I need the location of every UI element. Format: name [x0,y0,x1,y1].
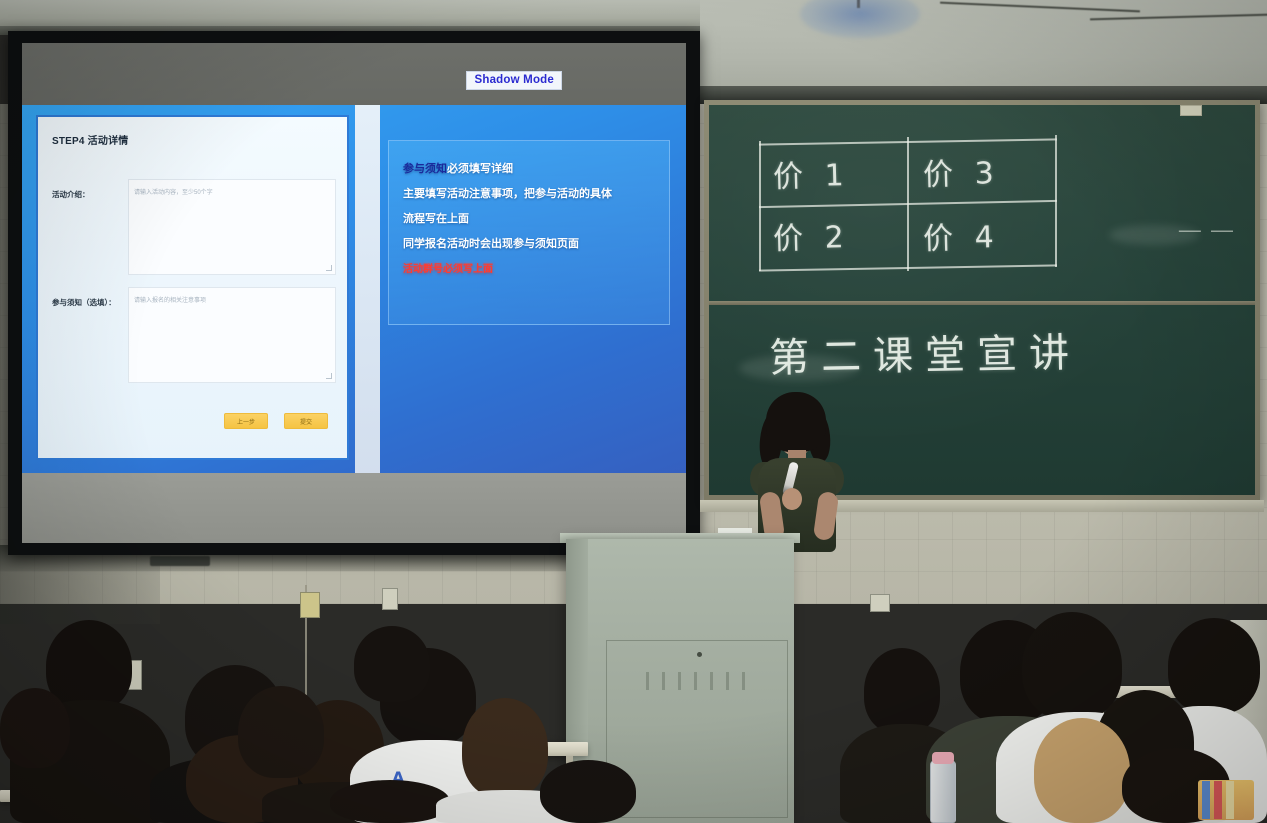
podium-dot [697,652,702,657]
student-head [1022,612,1122,720]
student-head [540,760,636,823]
projection-screen: Shadow Mode STEP4 活动详情 活动介绍： 请输入活动内容，至少5… [8,31,700,555]
student-head [238,686,324,778]
podium-slot [710,672,713,690]
chalk-grid: 价 1 价 3 价 2 价 4 [759,141,1059,271]
presenter [742,392,852,552]
podium-slot [646,672,649,690]
field-label-activity-intro: 活动介绍： [52,189,90,200]
note-rest: 必须填写详细 [447,163,513,175]
shadow-mode-badge: Shadow Mode [466,71,562,90]
chalk-dash: — — [1179,217,1235,243]
podium-slot [726,672,729,690]
podium-slot [678,672,681,690]
chalk-cell-3: 价 2 [772,212,850,258]
blackboard-title: 第二课堂宣讲 [769,320,1082,383]
wall-conduit [150,556,210,566]
podium-slot [694,672,697,690]
ceiling-fan-rod [857,0,860,8]
presenter-hand [782,488,802,510]
student-head [1034,718,1130,823]
slide-canvas: STEP4 活动详情 活动介绍： 请输入活动内容，至少50个字 参与须知（选填）… [22,105,686,473]
blackboard-eraser[interactable] [1180,105,1202,116]
chalk-cell-2: 价 3 [922,148,1000,194]
blackboard-split [709,301,1255,305]
slide-divider [355,105,380,473]
student-head [0,688,70,768]
resize-handle[interactable] [326,373,332,379]
activity-form-card: STEP4 活动详情 活动介绍： 请输入活动内容，至少50个字 参与须知（选填）… [36,115,349,460]
podium-slot [742,672,745,690]
chalk-cell-4: 价 4 [922,212,1000,258]
pencil-case-stripe [1202,781,1210,819]
student-head [1168,618,1260,714]
resize-handle[interactable] [326,265,332,271]
field-label-participation-notice: 参与须知（选填）： [52,297,116,308]
pencil-case-stripe [1226,781,1234,819]
note-line-3: 流程写在上面 [403,207,657,232]
wall-outlet [870,594,890,612]
classroom-scene: Shadow Mode STEP4 活动详情 活动介绍： 请输入活动内容，至少5… [0,0,1267,823]
screen-surface: Shadow Mode STEP4 活动详情 活动介绍： 请输入活动内容，至少5… [22,43,686,543]
note-line-alert: 活动群号必须写上面 [403,257,657,282]
student-head [462,698,548,798]
submit-button[interactable]: 提交 [284,413,328,429]
water-bottle-cap [932,752,954,764]
participation-notice-placeholder: 请输入报名的相关注意事项 [134,295,206,304]
student-head [354,626,430,702]
pencil-case-stripe [1214,781,1222,819]
student-head [864,648,940,734]
water-bottle [930,760,956,823]
podium-slot [662,672,665,690]
note-highlight: 参与须知 [403,163,447,175]
chalk-cell-1: 价 1 [772,150,850,196]
activity-intro-placeholder: 请输入活动内容，至少50个字 [134,187,213,196]
note-line-2: 主要填写活动注意事项，把参与活动的具体 [403,182,657,207]
presenter-hair [766,392,826,452]
pencil-case [1198,780,1254,820]
wall-switch [300,592,320,618]
screen-top-band [22,43,686,105]
form-step-label: STEP4 [52,136,85,147]
form-step-title: STEP4 活动详情 [52,132,128,147]
note-line-4: 同学报名活动时会出现参与须知页面 [403,232,657,257]
form-step-name: 活动详情 [88,136,129,147]
wall-outlet [382,588,398,610]
note-line-1: 参与须知必须填写详细 [403,157,657,182]
notes-panel: 参与须知必须填写详细 主要填写活动注意事项，把参与活动的具体 流程写在上面 同学… [388,140,670,325]
student-head [330,780,450,823]
previous-step-button[interactable]: 上一步 [224,413,268,429]
